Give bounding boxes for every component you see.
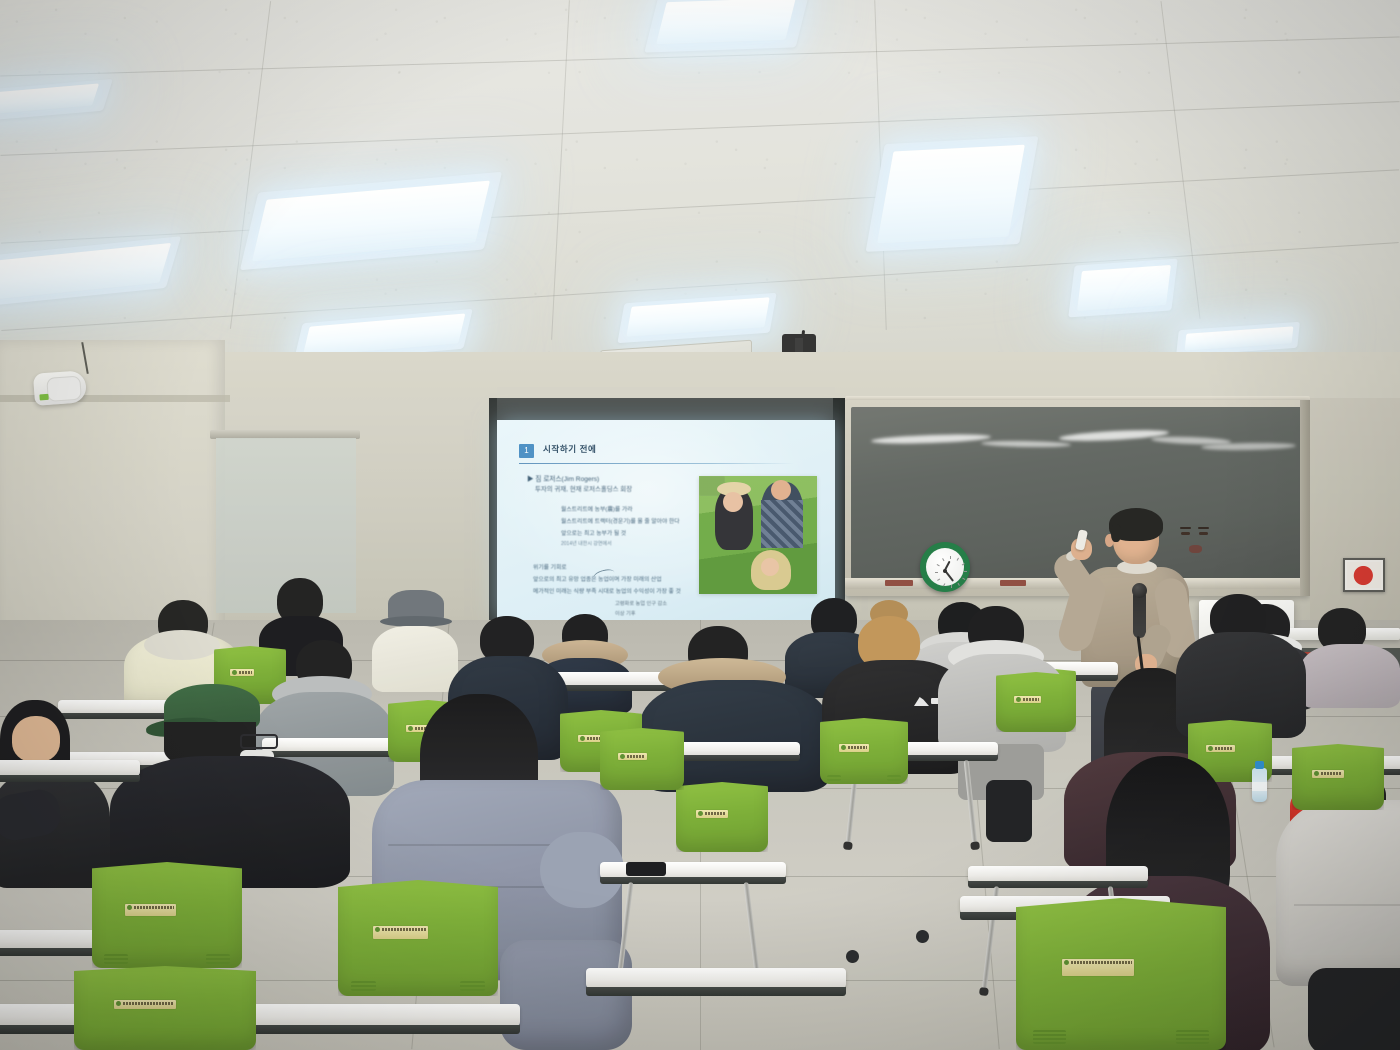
desk <box>586 968 846 996</box>
slide-quote-source: 2014년 내한시 강연에서 <box>561 540 612 547</box>
lecture-hall-photo: 1 시작하기 전에 ▶ 짐 로저스(Jim Rogers) 투자의 귀재, 현재… <box>0 0 1400 1050</box>
chair[interactable] <box>676 782 768 852</box>
student-head <box>12 716 60 762</box>
ceiling-light-1 <box>656 0 796 44</box>
student-front-5 <box>1276 800 1400 1050</box>
desk-caster <box>846 950 859 963</box>
chair[interactable] <box>1016 898 1226 1050</box>
slide-bullet: ▶ 짐 로저스(Jim Rogers) <box>527 473 599 483</box>
chair[interactable] <box>74 966 256 1050</box>
screen-recess-shadow <box>495 398 840 422</box>
slide-title: 시작하기 전에 <box>543 443 596 455</box>
student-mid-7 <box>1176 594 1306 734</box>
blackboard-right-edge <box>1300 400 1310 596</box>
chair[interactable] <box>996 672 1076 732</box>
chair[interactable] <box>600 728 684 790</box>
student-front-2 <box>110 684 350 884</box>
slide-quote-line: 월스트리트에 농부(農)를 가라 <box>561 504 633 513</box>
chair[interactable] <box>92 862 242 968</box>
desk <box>968 866 1148 888</box>
board-eraser[interactable] <box>1000 580 1026 586</box>
hood <box>144 630 220 660</box>
slide-subtitle: 투자의 귀재, 현재 로저스홀딩스 회장 <box>535 484 632 493</box>
chair[interactable] <box>338 880 498 996</box>
eyeglasses-icon <box>240 734 278 749</box>
chair[interactable] <box>820 718 908 784</box>
slide-body-line: 메가적인 미래는 식량 부족 시대로 농업의 수익성이 가장 좋 것 <box>533 586 681 595</box>
brand-logo <box>914 694 940 708</box>
board-eraser[interactable] <box>885 580 913 586</box>
desk-caster <box>916 930 929 943</box>
chair[interactable] <box>1292 744 1384 810</box>
student-front-1 <box>0 700 110 880</box>
wall-clock <box>920 542 970 592</box>
bag-under-desk <box>986 780 1032 842</box>
screen-frame-left <box>489 398 497 623</box>
phone-on-desk[interactable] <box>626 862 666 876</box>
slide-quote-line: 월스트리트에 트랙터(경운기)를 몰 줄 알아야 한다 <box>561 516 680 525</box>
student-puffer <box>1276 800 1400 986</box>
puffer-seam <box>1294 904 1400 906</box>
presenter-hair <box>1109 508 1163 541</box>
handheld-microphone[interactable] <box>1133 590 1146 638</box>
slide-note: 고령화로 농업 인구 감소 <box>615 600 667 607</box>
wall-speaker <box>33 370 87 406</box>
slide-quote-line: 앞으로는 최고 농부가 될 것 <box>561 528 626 537</box>
ceiling-light-2 <box>877 145 1025 244</box>
wall-safety-sign <box>1343 558 1385 592</box>
slide-number-badge: 1 <box>519 444 534 458</box>
slide-photo <box>699 476 817 594</box>
slide-body-line: 위기를 기회로 <box>533 562 567 571</box>
student-lower-body <box>1308 968 1400 1050</box>
projected-slide: 1 시작하기 전에 ▶ 짐 로저스(Jim Rogers) 투자의 귀재, 현재… <box>497 420 835 620</box>
desk <box>0 760 140 782</box>
student-far-8 <box>1300 608 1400 704</box>
student-torso <box>1300 644 1400 708</box>
slide-title-rule <box>519 463 794 464</box>
ceiling-light-3 <box>1077 265 1171 311</box>
